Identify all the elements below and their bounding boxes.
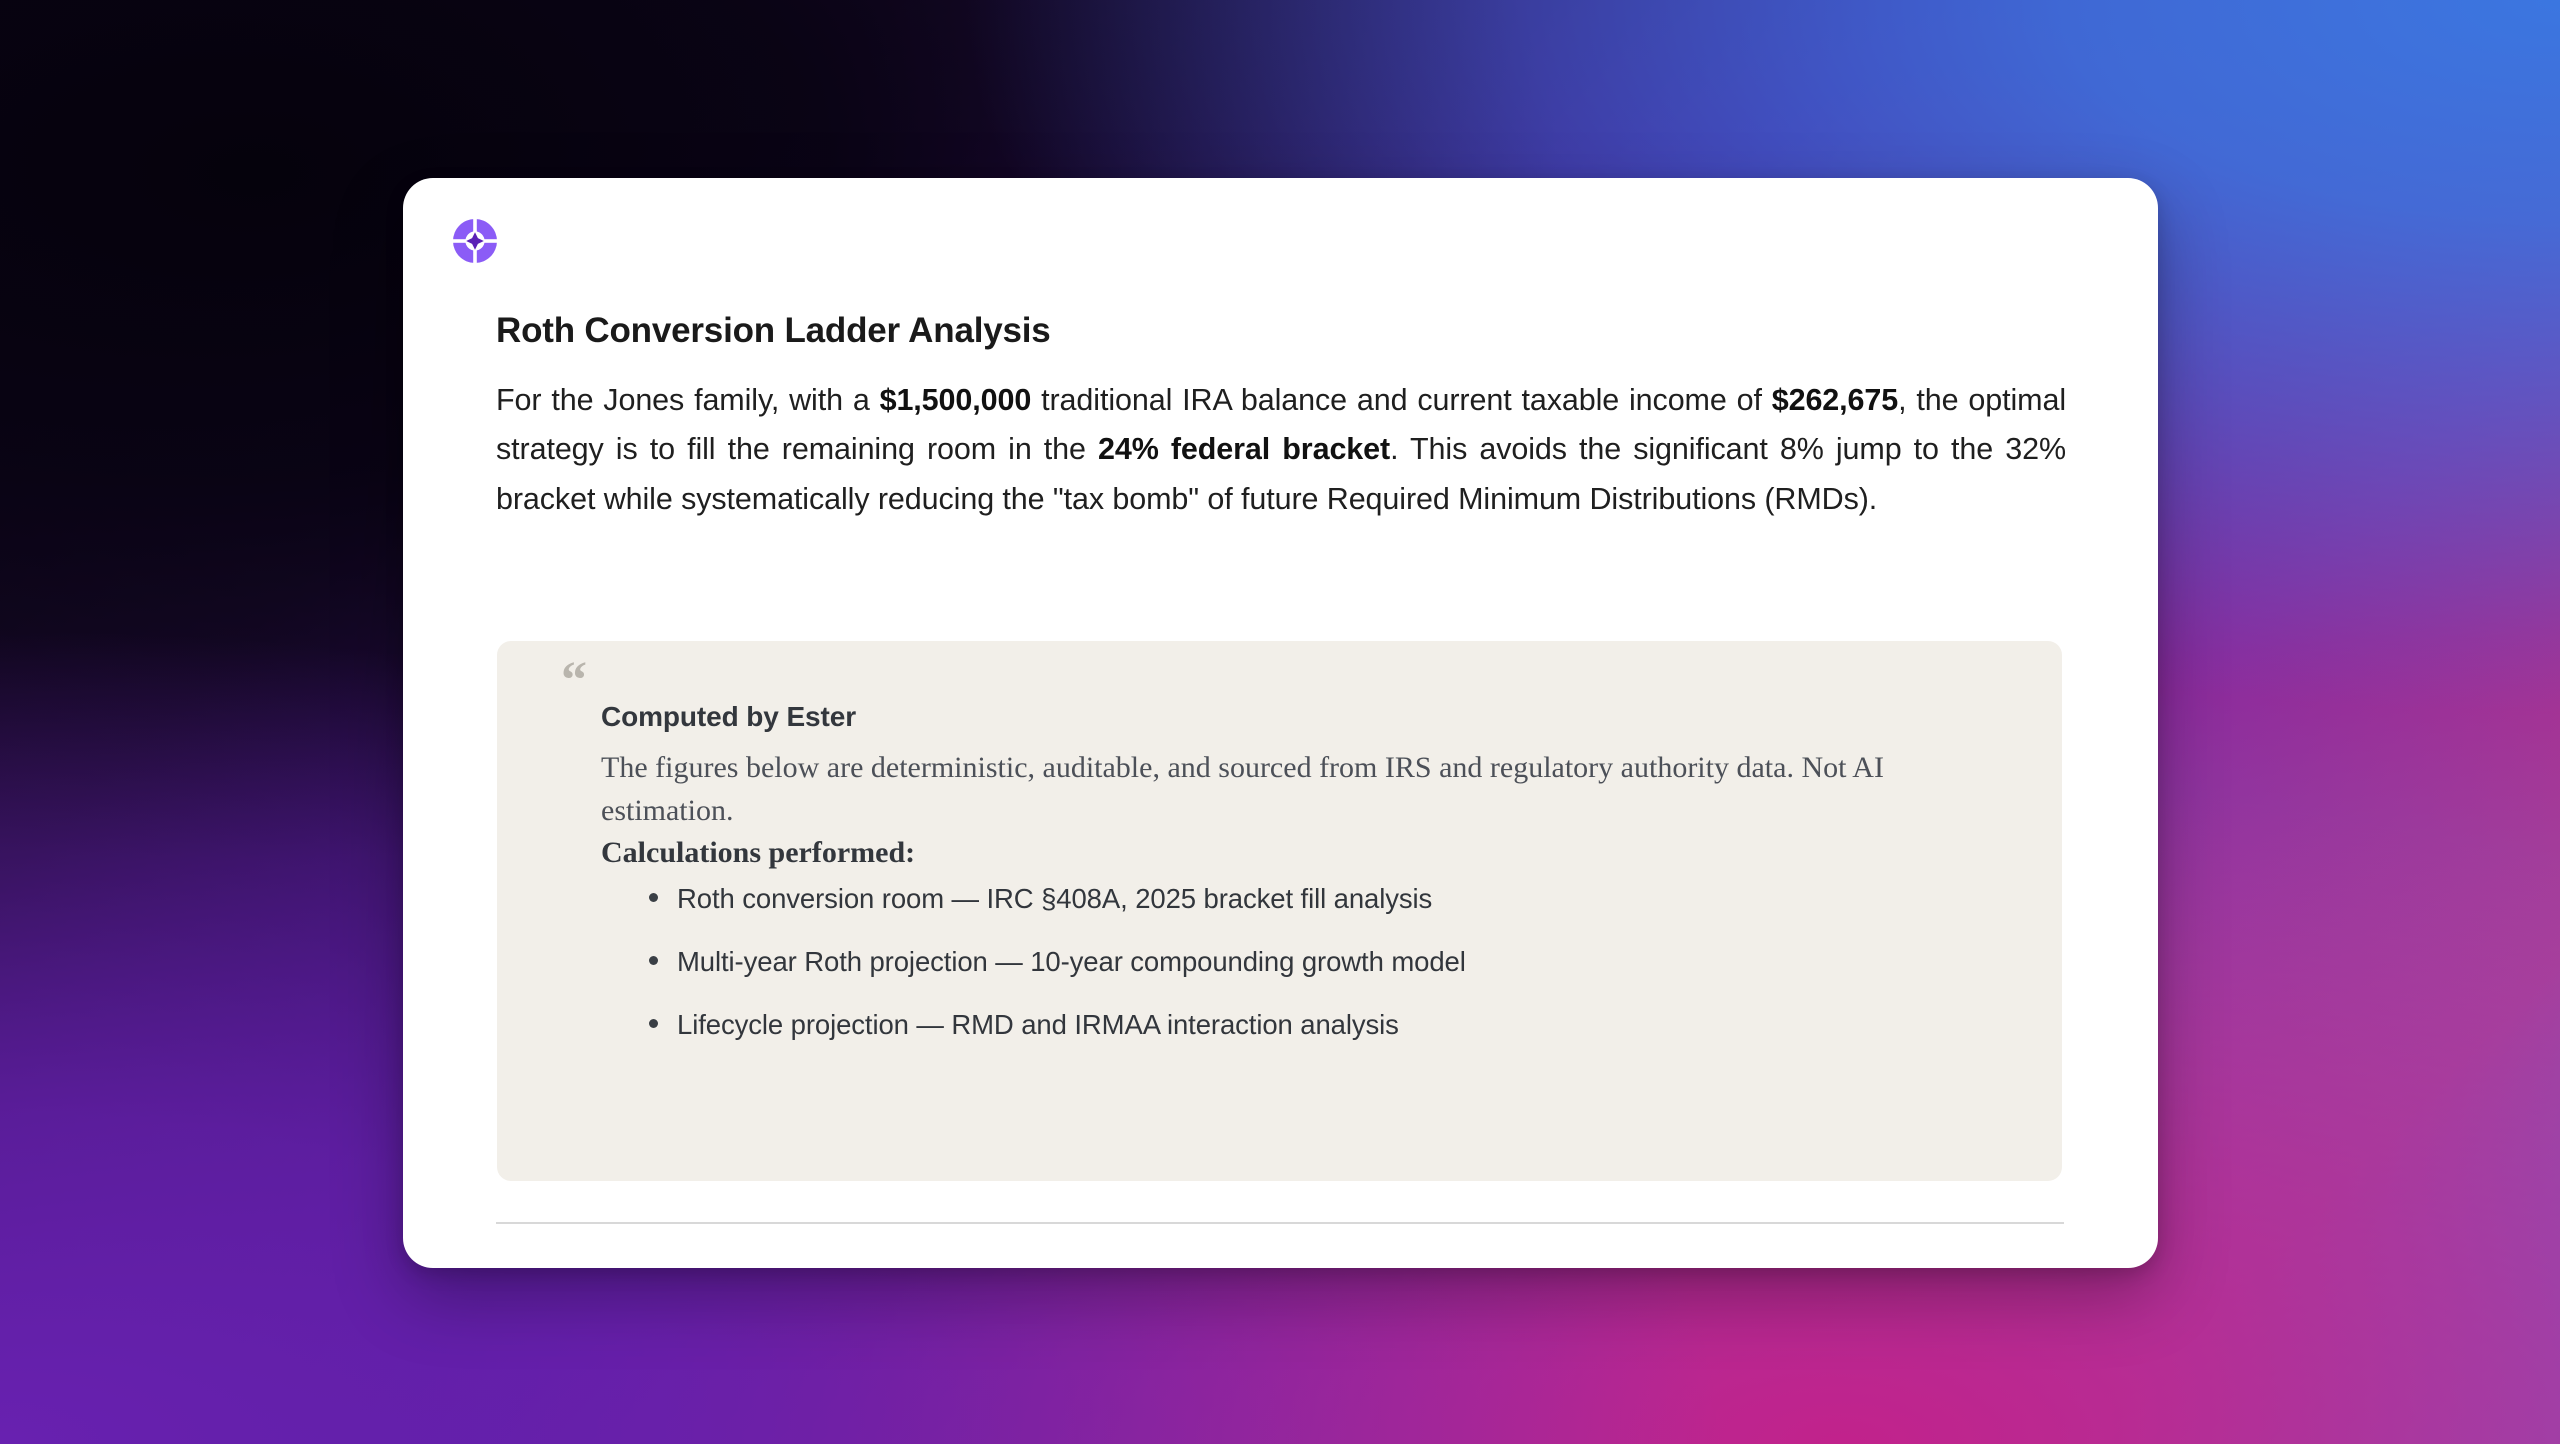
list-item: Roth conversion room — IRC §408A, 2025 b… <box>649 880 2022 917</box>
emphasis-value: $262,675 <box>1772 383 1898 417</box>
callout-description: The figures below are deterministic, aud… <box>601 747 2022 832</box>
bullet-dot-icon <box>649 956 658 965</box>
emphasis-value: 24% federal bracket <box>1098 432 1390 466</box>
list-item-label: Roth conversion room — IRC §408A, 2025 b… <box>677 883 1432 914</box>
quote-mark-icon: “ <box>561 667 2022 697</box>
ester-quatrefoil-icon <box>451 217 499 265</box>
bullet-dot-icon <box>649 1019 658 1028</box>
body-text-run: traditional IRA balance and current taxa… <box>1031 383 1771 417</box>
callout-subheading: Calculations performed: <box>601 836 2022 870</box>
summary-paragraph: For the Jones family, with a $1,500,000 … <box>496 376 2066 524</box>
body-text-run: For the Jones family, with a <box>496 383 880 417</box>
calculations-list: Roth conversion room — IRC §408A, 2025 b… <box>601 880 2022 1043</box>
callout-heading: Computed by Ester <box>601 701 2022 733</box>
list-item: Multi-year Roth projection — 10-year com… <box>649 943 2022 980</box>
page-title: Roth Conversion Ladder Analysis <box>496 310 2066 352</box>
list-item: Lifecycle projection — RMD and IRMAA int… <box>649 1006 2022 1043</box>
app-background: Roth Conversion Ladder Analysis For the … <box>0 0 2560 1444</box>
list-item-label: Multi-year Roth projection — 10-year com… <box>677 946 1466 977</box>
bullet-dot-icon <box>649 893 658 902</box>
computed-by-callout: “ Computed by Ester The figures below ar… <box>497 641 2062 1181</box>
card-content: Roth Conversion Ladder Analysis For the … <box>496 310 2066 524</box>
card-footer-divider <box>496 1222 2064 1224</box>
callout-inner: Computed by Ester The figures below are … <box>601 701 2022 1044</box>
emphasis-value: $1,500,000 <box>880 383 1032 417</box>
list-item-label: Lifecycle projection — RMD and IRMAA int… <box>677 1009 1399 1040</box>
